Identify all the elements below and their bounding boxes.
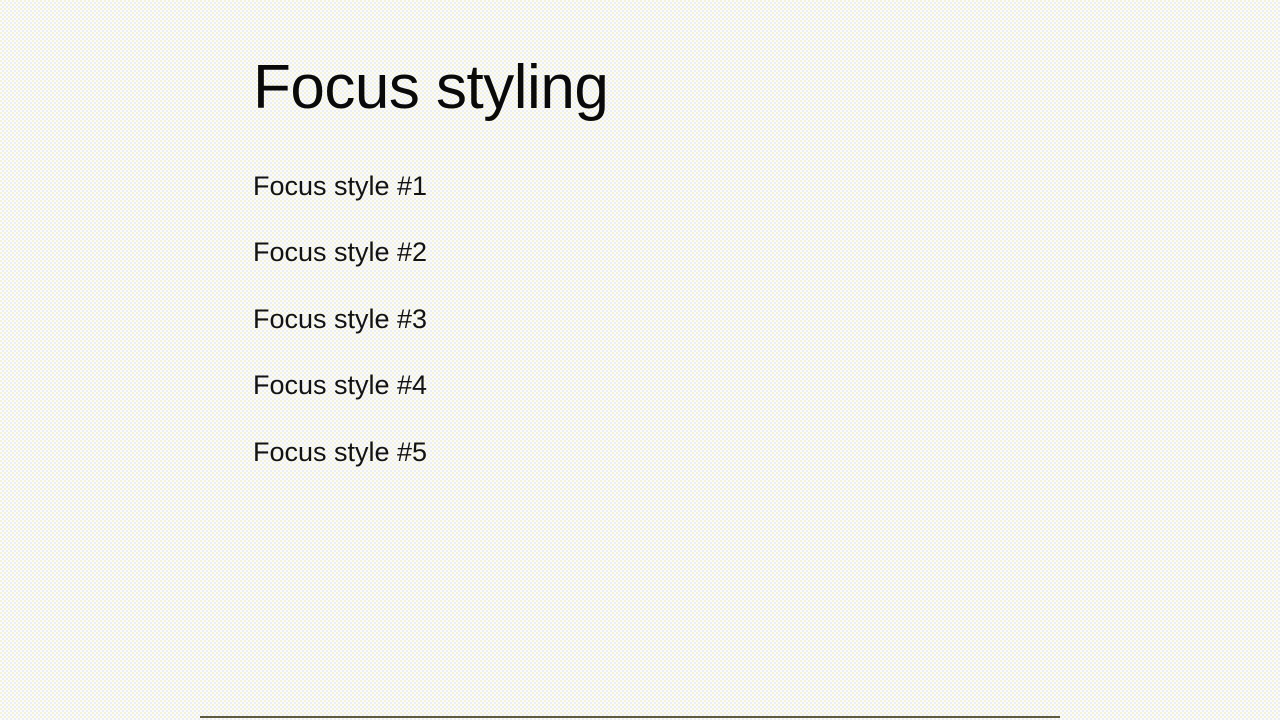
bottom-divider: [200, 716, 1060, 718]
list-item[interactable]: Focus style #2: [253, 236, 953, 268]
slide: Focus styling Focus style #1 Focus style…: [0, 0, 1280, 720]
focus-style-list: Focus style #1 Focus style #2 Focus styl…: [253, 170, 953, 468]
list-item[interactable]: Focus style #3: [253, 303, 953, 335]
page-title: Focus styling: [253, 54, 608, 122]
list-item[interactable]: Focus style #5: [253, 436, 953, 468]
list-item[interactable]: Focus style #1: [253, 170, 953, 202]
list-item[interactable]: Focus style #4: [253, 369, 953, 401]
